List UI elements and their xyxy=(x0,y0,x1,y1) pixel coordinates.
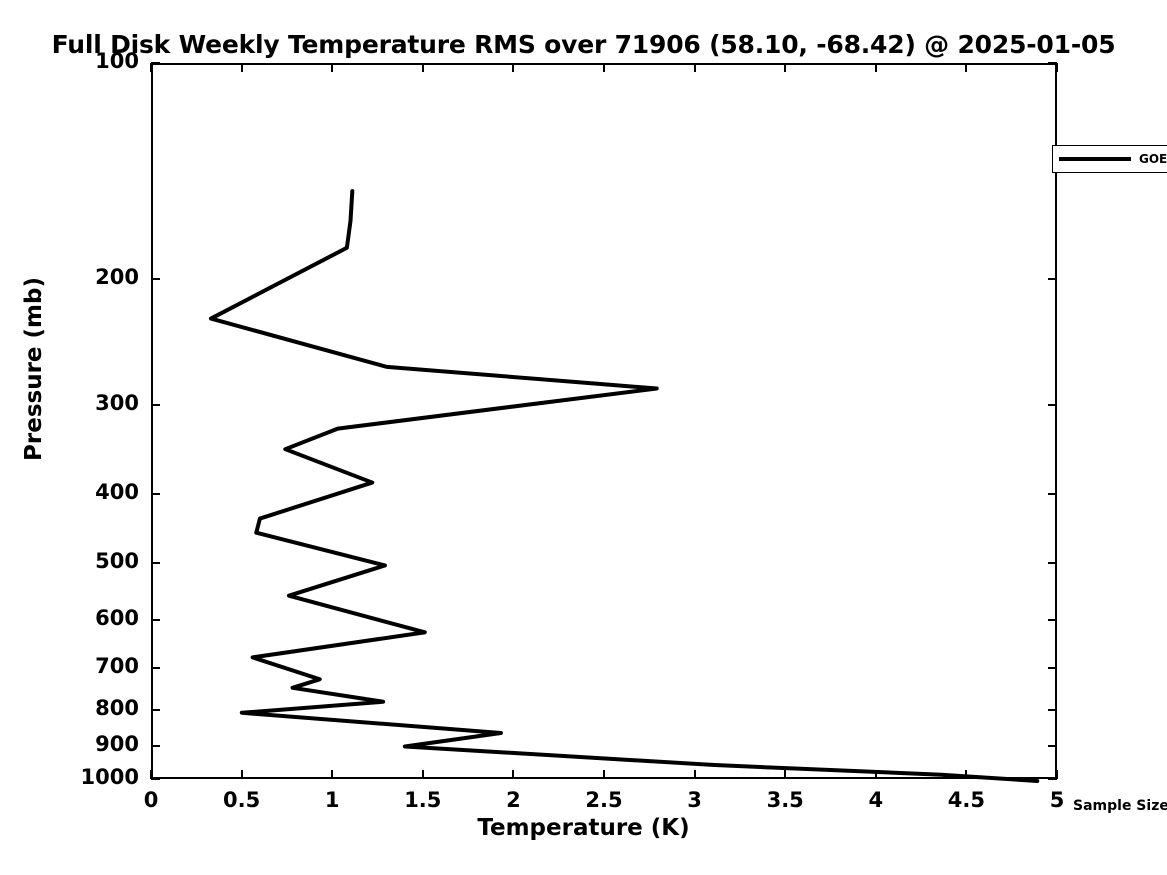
x-tick-mark xyxy=(965,770,967,779)
x-tick-mark xyxy=(875,770,877,779)
y-tick-mark xyxy=(151,709,160,711)
x-tick-mark xyxy=(331,770,333,779)
x-tick-mark xyxy=(150,770,152,779)
x-tick-mark xyxy=(1056,63,1058,72)
y-tick-mark xyxy=(1048,709,1057,711)
x-tick-mark xyxy=(512,770,514,779)
y-tick-mark xyxy=(1048,278,1057,280)
data-series-svg xyxy=(153,65,1059,781)
x-tick-label-0: 0 xyxy=(111,788,191,812)
y-tick-label-600: 600 xyxy=(29,606,139,630)
x-tick-mark xyxy=(784,770,786,779)
y-tick-label-200: 200 xyxy=(29,265,139,289)
y-axis-label: Pressure (mb) xyxy=(21,69,47,669)
y-tick-mark xyxy=(151,404,160,406)
y-tick-label-400: 400 xyxy=(29,480,139,504)
page-title: Full Disk Weekly Temperature RMS over 71… xyxy=(0,30,1167,59)
y-tick-label-300: 300 xyxy=(29,391,139,415)
x-tick-label-3: 3 xyxy=(655,788,735,812)
y-tick-mark xyxy=(1048,404,1057,406)
x-tick-label-4.5: 4.5 xyxy=(926,788,1006,812)
y-tick-mark xyxy=(151,278,160,280)
y-tick-label-800: 800 xyxy=(29,696,139,720)
plot-area: GOES-16 Sample Size = 3 xyxy=(151,63,1057,779)
y-tick-mark xyxy=(151,778,160,780)
x-tick-mark xyxy=(1056,770,1058,779)
x-tick-mark xyxy=(784,63,786,72)
x-tick-mark xyxy=(694,63,696,72)
x-tick-mark xyxy=(150,63,152,72)
x-tick-mark xyxy=(603,63,605,72)
x-tick-mark xyxy=(241,63,243,72)
x-tick-mark xyxy=(603,770,605,779)
y-tick-mark xyxy=(1048,619,1057,621)
y-tick-label-700: 700 xyxy=(29,654,139,678)
x-tick-label-4: 4 xyxy=(836,788,916,812)
x-tick-label-1.5: 1.5 xyxy=(383,788,463,812)
x-tick-mark xyxy=(241,770,243,779)
y-tick-mark xyxy=(151,619,160,621)
x-tick-label-0.5: 0.5 xyxy=(202,788,282,812)
x-tick-label-2: 2 xyxy=(473,788,553,812)
x-tick-mark xyxy=(331,63,333,72)
x-tick-mark xyxy=(422,770,424,779)
x-tick-label-5: 5 xyxy=(1017,788,1097,812)
figure-canvas: Full Disk Weekly Temperature RMS over 71… xyxy=(0,0,1167,875)
y-tick-mark xyxy=(151,667,160,669)
x-tick-mark xyxy=(422,63,424,72)
series-line-goes-16 xyxy=(211,191,1037,781)
x-tick-mark xyxy=(875,63,877,72)
x-tick-mark xyxy=(512,63,514,72)
x-tick-label-2.5: 2.5 xyxy=(564,788,644,812)
x-tick-label-1: 1 xyxy=(292,788,372,812)
y-tick-label-100: 100 xyxy=(29,49,139,73)
x-tick-label-3.5: 3.5 xyxy=(745,788,825,812)
y-tick-mark xyxy=(151,62,160,64)
x-tick-mark xyxy=(965,63,967,72)
y-tick-mark xyxy=(1048,562,1057,564)
x-axis-label: Temperature (K) xyxy=(0,815,1167,841)
legend-label-goes-16: GOES-16 xyxy=(1139,152,1167,166)
legend-line-swatch xyxy=(1059,157,1131,161)
y-tick-label-500: 500 xyxy=(29,549,139,573)
y-tick-mark xyxy=(151,562,160,564)
y-tick-mark xyxy=(151,493,160,495)
y-tick-mark xyxy=(1048,745,1057,747)
y-tick-mark xyxy=(1048,493,1057,495)
y-tick-mark xyxy=(1048,667,1057,669)
y-tick-label-900: 900 xyxy=(29,732,139,756)
y-tick-mark xyxy=(151,745,160,747)
legend[interactable]: GOES-16 xyxy=(1052,145,1167,173)
y-tick-label-1000: 1000 xyxy=(29,765,139,789)
x-tick-mark xyxy=(694,770,696,779)
